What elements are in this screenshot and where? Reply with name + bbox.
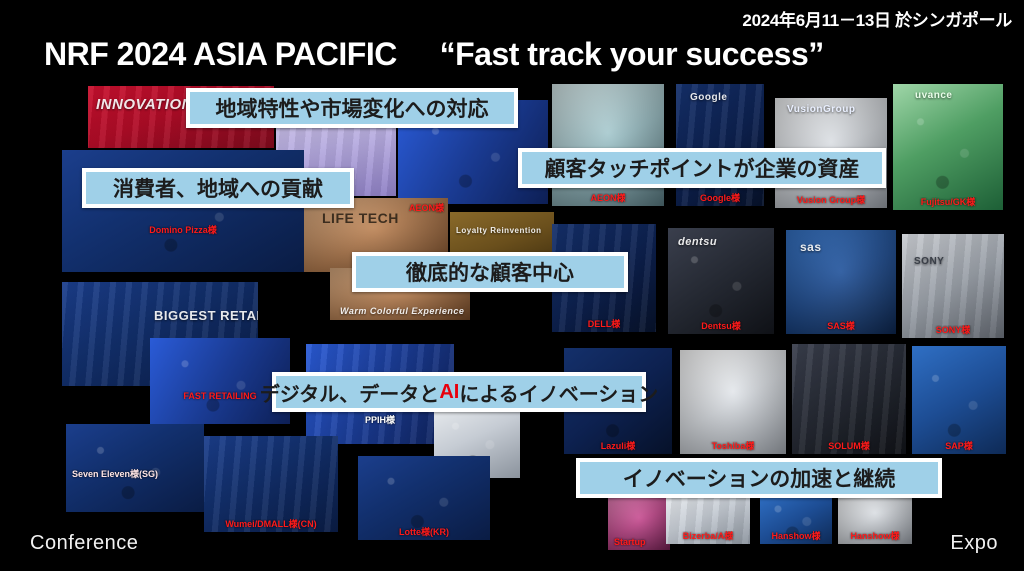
page-title-main: NRF 2024 ASIA PACIFIC <box>44 36 397 72</box>
booth-sign-text: sas <box>800 240 822 254</box>
photo-caption: Wumei/DMALL様(CN) <box>204 519 338 530</box>
photo-caption: Fujitsu/GK様 <box>893 197 1003 208</box>
photo-texture <box>902 234 1004 338</box>
photo-caption: Hanshow様 <box>838 531 912 542</box>
callout-digital-data-ai: デジタル、データとAIによるイノベーション <box>272 372 646 412</box>
slide-canvas: INNOVATION IS LIFE TECH AEON様 Loyalty Re… <box>0 0 1024 571</box>
expo-photo-tile: dentsu Dentsu様 <box>668 228 774 334</box>
photo-caption: AEON様 <box>552 193 664 204</box>
callout-text-part1: デジタル、データと <box>260 378 440 407</box>
photo-caption: SAS様 <box>786 321 896 332</box>
expo-photo-tile: uvance Fujitsu/GK様 <box>893 84 1003 210</box>
photo-caption: SOLUM様 <box>792 441 906 452</box>
booth-sign-text: Google <box>690 92 727 103</box>
callout-text-part2: によるイノベーション <box>459 378 658 407</box>
callout-customer-touchpoints: 顧客タッチポイントが企業の資産 <box>518 148 886 188</box>
callout-text: 顧客タッチポイントが企業の資産 <box>545 153 860 183</box>
photo-caption: Toshiba様 <box>680 441 786 452</box>
expo-photo-tile: Hanshow様 <box>838 492 912 544</box>
photo-texture <box>204 436 338 532</box>
photo-slide-text: Loyalty Reinvention <box>456 226 542 235</box>
photo-caption: Lotte様(KR) <box>358 527 490 538</box>
callout-text: 消費者、地域への貢献 <box>113 173 323 203</box>
photo-caption: PPIH様 <box>306 415 454 426</box>
photo-caption: Seven Eleven様(SG) <box>66 469 204 480</box>
photo-caption: Google様 <box>676 193 764 204</box>
photo-caption: Dentsu様 <box>668 321 774 332</box>
photo-caption: Domino Pizza様 <box>62 225 304 236</box>
photo-texture <box>893 84 1003 210</box>
expo-photo-tile: Toshiba様 <box>680 350 786 454</box>
section-label-expo: Expo <box>950 532 998 555</box>
photo-caption: SONY様 <box>902 325 1004 336</box>
callout-customer-centric: 徹底的な顧客中心 <box>352 252 628 292</box>
conference-photo-tile: Lotte様(KR) <box>358 456 490 540</box>
callout-text-highlight: AI <box>439 381 459 404</box>
photo-caption: Startup <box>608 537 670 548</box>
photo-caption: Lazuli様 <box>564 441 672 452</box>
section-label-conference: Conference <box>30 532 138 555</box>
callout-text: 徹底的な顧客中心 <box>406 257 574 287</box>
photo-texture <box>66 424 204 512</box>
page-title: NRF 2024 ASIA PACIFIC “Fast track your s… <box>44 36 824 73</box>
callout-text: 地域特性や市場変化への対応 <box>216 93 489 123</box>
photo-caption: Vusion Group様 <box>775 195 887 206</box>
photo-slide-text: BIGGEST RETAIL EVENT <box>154 308 258 323</box>
photo-caption: DELL様 <box>552 319 656 330</box>
conference-photo-tile: Seven Eleven様(SG) <box>66 424 204 512</box>
photo-texture <box>680 350 786 454</box>
expo-photo-tile: Bizerba/A様 <box>666 494 750 544</box>
photo-caption: Bizerba/A様 <box>666 531 750 542</box>
conference-photo-tile: Wumei/DMALL様(CN) <box>204 436 338 532</box>
expo-photo-tile: Startup <box>608 496 670 550</box>
booth-sign-text: SONY <box>914 256 944 267</box>
expo-photo-tile: SAP様 <box>912 346 1006 454</box>
booth-sign-text: uvance <box>915 90 952 101</box>
booth-sign-text: dentsu <box>678 236 717 248</box>
expo-photo-tile: Hanshow様 <box>760 494 832 544</box>
photo-texture <box>912 346 1006 454</box>
expo-photo-tile: SONY SONY様 <box>902 234 1004 338</box>
callout-text: イノベーションの加速と継続 <box>623 463 896 493</box>
photo-slide-text: Warm Colorful Experience <box>340 306 464 316</box>
page-title-tagline: “Fast track your success” <box>440 36 824 72</box>
callout-consumer-community: 消費者、地域への貢献 <box>82 168 354 208</box>
photo-caption: SAP様 <box>912 441 1006 452</box>
photo-caption: Hanshow様 <box>760 531 832 542</box>
callout-regional-adaptation: 地域特性や市場変化への対応 <box>186 88 518 128</box>
expo-photo-tile: SOLUM様 <box>792 344 906 454</box>
photo-texture <box>792 344 906 454</box>
booth-sign-text: VusionGroup <box>787 104 855 115</box>
event-date-location: 2024年6月11－13日 於シンガポール <box>742 6 1012 31</box>
expo-photo-tile: sas SAS様 <box>786 230 896 334</box>
callout-innovation-acceleration: イノベーションの加速と継続 <box>576 458 942 498</box>
